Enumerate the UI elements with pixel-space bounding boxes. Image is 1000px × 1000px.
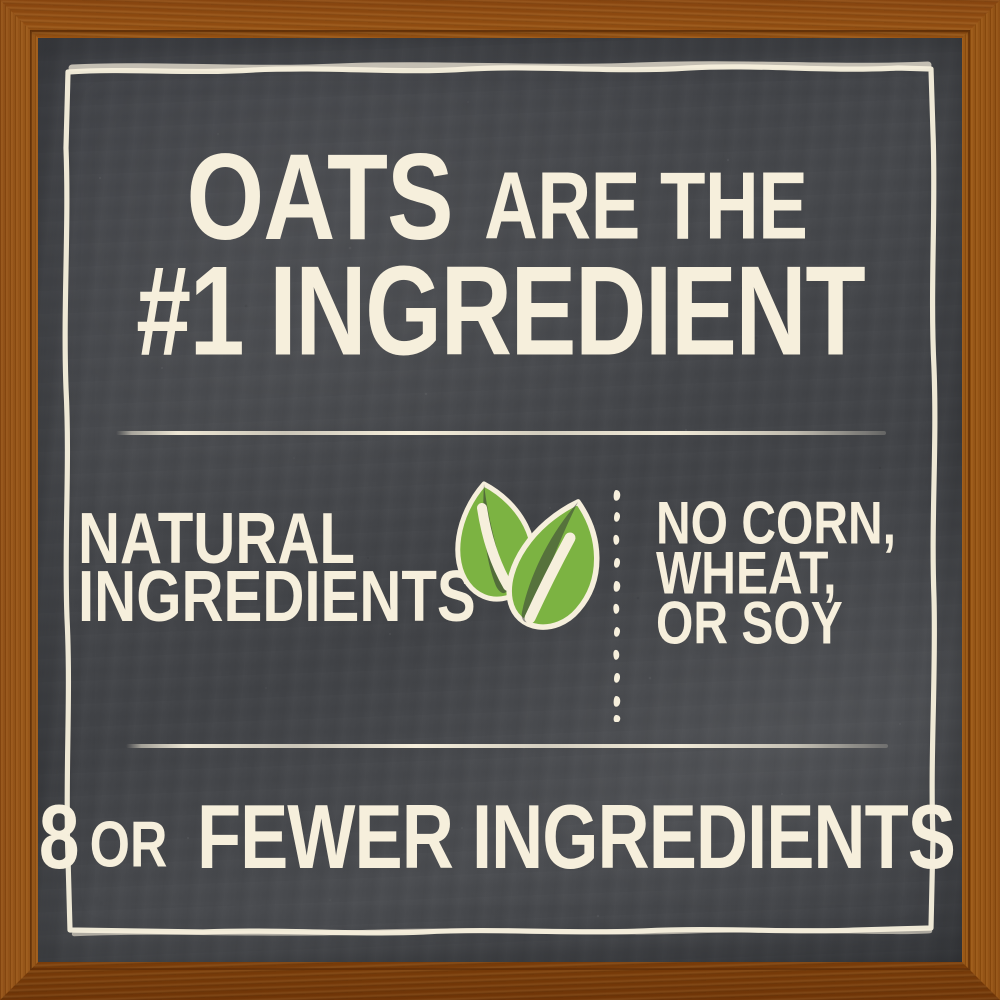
bottom-claim-number: 8 xyxy=(39,785,80,889)
headline-line-2: #1 INGREDIENT xyxy=(38,264,962,362)
no-list-line-3: OR SOY xyxy=(656,598,956,648)
headline-line-1: OATSARE THE xyxy=(38,150,962,248)
bottom-claim-rest: FEWER INGREDIENTS xyxy=(197,785,955,889)
board-content: OATSARE THE #1 INGREDIENT NATURAL INGRED… xyxy=(38,38,962,962)
natural-line-2-text: INGREDIENTS xyxy=(78,562,476,631)
headline: OATSARE THE #1 INGREDIENT xyxy=(38,150,962,362)
framed-chalkboard-poster: OATSARE THE #1 INGREDIENT NATURAL INGRED… xyxy=(0,0,1000,1000)
no-corn-wheat-soy-block: NO CORN, WHEAT, OR SOY xyxy=(656,498,956,648)
headline-word-oats: OATS xyxy=(186,141,452,256)
chalk-divider-top xyxy=(116,431,886,435)
no-list-line-3-text: OR SOY xyxy=(656,593,843,653)
headline-line-2-text: #1 INGREDIENT xyxy=(136,253,864,372)
chalkboard-surface: OATSARE THE #1 INGREDIENT NATURAL INGRED… xyxy=(38,38,962,962)
two-leaves-icon xyxy=(438,476,618,656)
bottom-claim: 8ORFEWER INGREDIENTS xyxy=(38,794,962,881)
chalk-divider-bottom xyxy=(126,744,888,748)
headline-word-are-the: ARE THE xyxy=(484,160,807,250)
bottom-claim-connector: OR xyxy=(90,808,168,882)
middle-row: NATURAL INGREDIENTS xyxy=(38,486,962,716)
dotted-vertical-chalk-divider xyxy=(611,486,625,722)
